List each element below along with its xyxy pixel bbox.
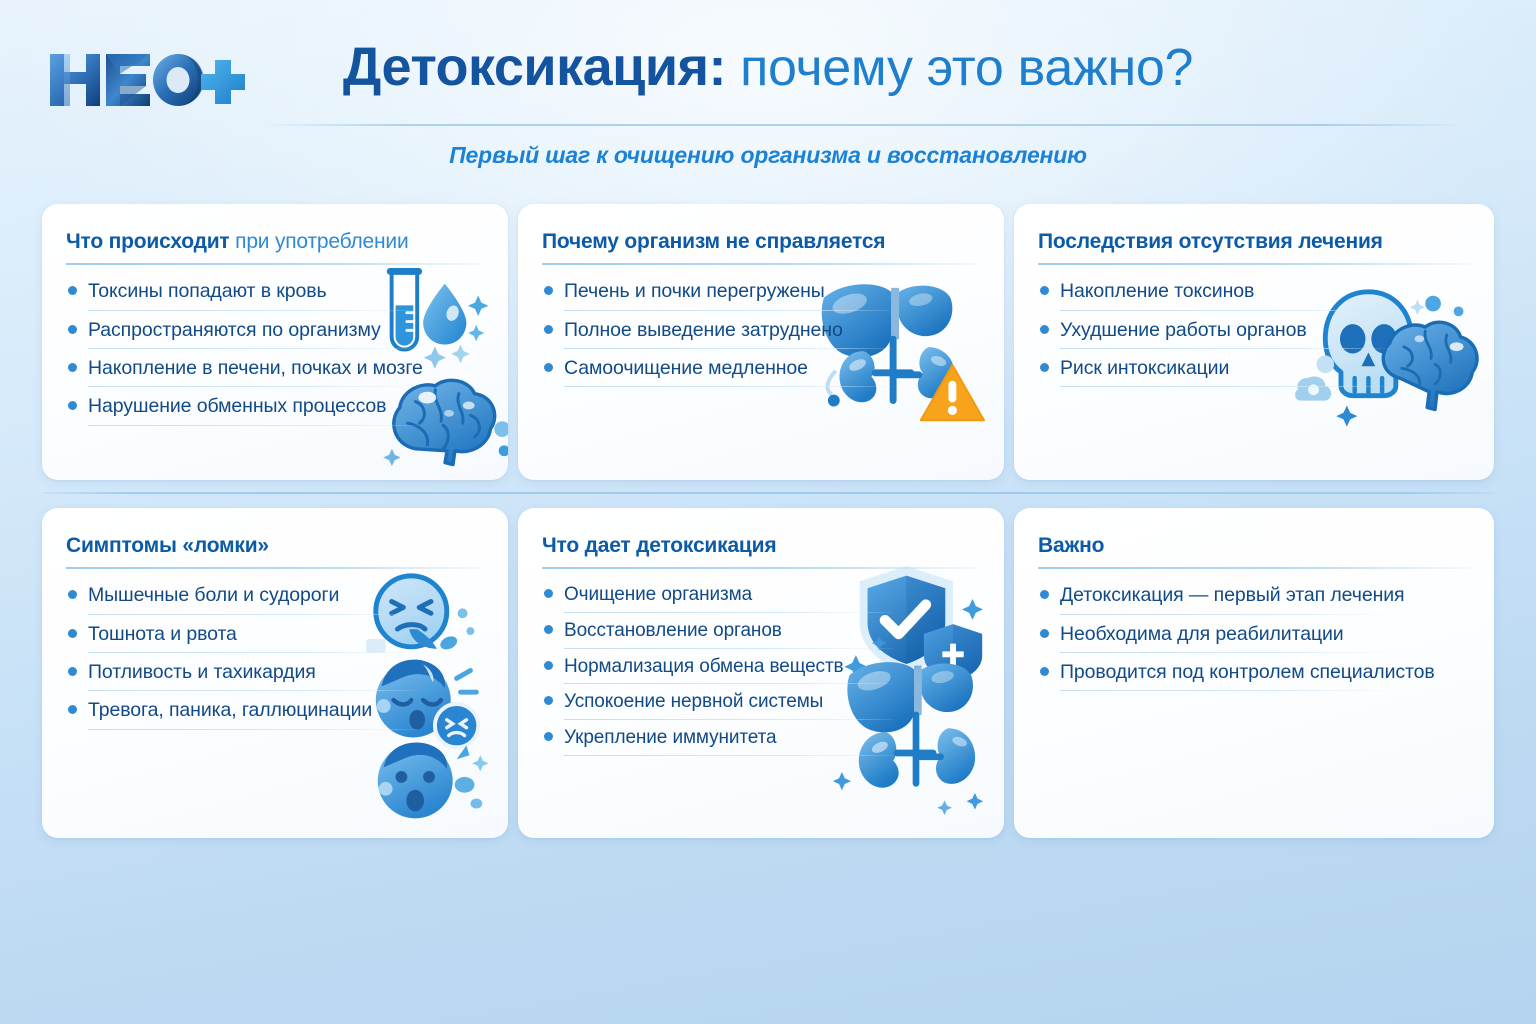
card-title-bold: Что дает детоксикация xyxy=(542,534,776,557)
list-item: Детоксикация — первый этап лечения xyxy=(1038,583,1470,614)
list-item-text: Тревога, паника, галлюцинации xyxy=(88,698,372,722)
bullet-icon xyxy=(68,363,77,372)
card-title-underline xyxy=(542,567,980,569)
list-item: Полное выведение затруднено xyxy=(542,318,980,349)
list-item-text: Необходима для реабилитации xyxy=(1060,622,1344,646)
list-item: Мышечные боли и судороги xyxy=(66,583,484,614)
bullet-icon xyxy=(68,286,77,295)
bullet-icon xyxy=(544,696,553,705)
card-title-underline xyxy=(66,263,484,265)
card-title-underline xyxy=(1038,567,1470,569)
card-title: Важно xyxy=(1038,534,1470,558)
infographic-page: Детоксикация: почему это важно? Первый ш… xyxy=(0,0,1536,1024)
bullet-icon xyxy=(68,401,77,410)
bullet-icon xyxy=(68,667,77,676)
card-what-happens: Что происходит при употреблении xyxy=(42,204,508,480)
list-item-text: Проводится под контролем специалистов xyxy=(1060,660,1435,684)
bullet-icon xyxy=(1040,629,1049,638)
list-item-text: Восстановление органов xyxy=(564,619,782,643)
page-title: Детоксикация: почему это важно? xyxy=(0,40,1536,94)
list-item-text: Риск интоксикации xyxy=(1060,356,1229,380)
bullet-icon xyxy=(544,325,553,334)
card-list: Печень и почки перегружены Полное выведе… xyxy=(542,279,980,387)
card-why-body-fails: Почему организм не справляется xyxy=(518,204,1004,480)
list-item-text: Тошнота и рвота xyxy=(88,622,237,646)
page-title-bold: Детоксикация: xyxy=(343,37,726,97)
card-title-underline xyxy=(66,567,484,569)
list-item-text: Очищение организма xyxy=(564,583,752,607)
page-title-regular: почему это важно? xyxy=(726,39,1193,97)
list-item-text: Накопление токсинов xyxy=(1060,279,1254,303)
bullet-icon xyxy=(544,286,553,295)
card-title-underline xyxy=(542,263,980,265)
card-title: Почему организм не справляется xyxy=(542,230,980,254)
bullet-icon xyxy=(68,590,77,599)
list-item-text: Полное выведение затруднено xyxy=(564,318,843,342)
card-list: Накопление токсинов Ухудшение работы орг… xyxy=(1038,279,1470,387)
bullet-icon xyxy=(68,705,77,714)
list-item-text: Распространяются по организму xyxy=(88,318,381,342)
list-item: Укрепление иммунитета xyxy=(542,726,980,756)
list-item: Распространяются по организму xyxy=(66,318,484,349)
list-item: Ухудшение работы органов xyxy=(1038,318,1470,349)
list-item: Очищение организма xyxy=(542,583,980,613)
list-item: Нормализация обмена веществ xyxy=(542,655,980,685)
bullet-icon xyxy=(68,325,77,334)
card-title: Симптомы «ломки» xyxy=(66,534,484,558)
bullet-icon xyxy=(68,629,77,638)
card-list: Детоксикация — первый этап лечения Необх… xyxy=(1038,583,1470,691)
list-item: Накопление токсинов xyxy=(1038,279,1470,310)
list-item-text: Токсины попадают в кровь xyxy=(88,279,327,303)
cards-row-bottom: Симптомы «ломки» xyxy=(42,508,1494,838)
card-list: Мышечные боли и судороги Тошнота и рвота… xyxy=(66,583,484,730)
list-item: Риск интоксикации xyxy=(1038,356,1470,387)
card-title-bold: Что происходит xyxy=(66,230,230,253)
list-item-text: Потливость и тахикардия xyxy=(88,660,316,684)
card-detox-benefits: Что дает детоксикация xyxy=(518,508,1004,838)
card-title-bold: Последствия отсутствия лечения xyxy=(1038,230,1383,253)
list-item-text: Детоксикация — первый этап лечения xyxy=(1060,583,1405,607)
list-item-text: Самоочищение медленное xyxy=(564,356,808,380)
card-title-regular: при употреблении xyxy=(230,230,409,253)
card-title-bold: Симптомы «ломки» xyxy=(66,534,269,557)
list-item: Тревога, паника, галлюцинации xyxy=(66,698,484,729)
bullet-icon xyxy=(544,363,553,372)
bullet-icon xyxy=(544,625,553,634)
card-important: Важно Детоксикация — первый этап лечения… xyxy=(1014,508,1494,838)
list-item-text: Печень и почки перегружены xyxy=(564,279,825,303)
card-list: Токсины попадают в кровь Распространяютс… xyxy=(66,279,484,426)
bullet-icon xyxy=(1040,286,1049,295)
list-item-text: Мышечные боли и судороги xyxy=(88,583,339,607)
card-title: Последствия отсутствия лечения xyxy=(1038,230,1470,254)
list-item: Тошнота и рвота xyxy=(66,622,484,653)
card-title-bold: Важно xyxy=(1038,534,1104,557)
row-divider xyxy=(42,492,1494,494)
list-item-text: Нарушение обменных процессов xyxy=(88,394,386,418)
page-subtitle: Первый шаг к очищению организма и восста… xyxy=(0,142,1536,169)
header: Детоксикация: почему это важно? Первый ш… xyxy=(0,0,1536,190)
bullet-icon xyxy=(1040,363,1049,372)
list-item-text: Накопление в печени, почках и мозге xyxy=(88,356,423,380)
card-title-underline xyxy=(1038,263,1470,265)
list-item: Нарушение обменных процессов xyxy=(66,394,484,425)
card-list: Очищение организма Восстановление органо… xyxy=(542,583,980,756)
list-item: Успокоение нервной системы xyxy=(542,690,980,720)
card-title: Что дает детоксикация xyxy=(542,534,980,558)
list-item: Накопление в печени, почках и мозге xyxy=(66,356,484,387)
list-item: Необходима для реабилитации xyxy=(1038,622,1470,653)
list-item-text: Нормализация обмена веществ xyxy=(564,655,844,679)
cards-row-top: Что происходит при употреблении xyxy=(42,204,1494,480)
list-item-text: Ухудшение работы органов xyxy=(1060,318,1307,342)
list-item-text: Укрепление иммунитета xyxy=(564,726,777,750)
bullet-icon xyxy=(1040,325,1049,334)
card-withdrawal-symptoms: Симптомы «ломки» xyxy=(42,508,508,838)
list-item: Печень и почки перегружены xyxy=(542,279,980,310)
card-title-bold: Почему организм не справляется xyxy=(542,230,885,253)
list-item: Самоочищение медленное xyxy=(542,356,980,387)
list-item: Токсины попадают в кровь xyxy=(66,279,484,310)
bullet-icon xyxy=(544,732,553,741)
list-item-text: Успокоение нервной системы xyxy=(564,690,823,714)
bullet-icon xyxy=(544,661,553,670)
bullet-icon xyxy=(1040,590,1049,599)
card-consequences: Последствия отсутствия лечения xyxy=(1014,204,1494,480)
list-item: Проводится под контролем специалистов xyxy=(1038,660,1470,691)
list-item: Восстановление органов xyxy=(542,619,980,649)
header-divider xyxy=(262,124,1466,126)
bullet-icon xyxy=(1040,667,1049,676)
list-item: Потливость и тахикардия xyxy=(66,660,484,691)
card-title: Что происходит при употреблении xyxy=(66,230,484,254)
bullet-icon xyxy=(544,589,553,598)
